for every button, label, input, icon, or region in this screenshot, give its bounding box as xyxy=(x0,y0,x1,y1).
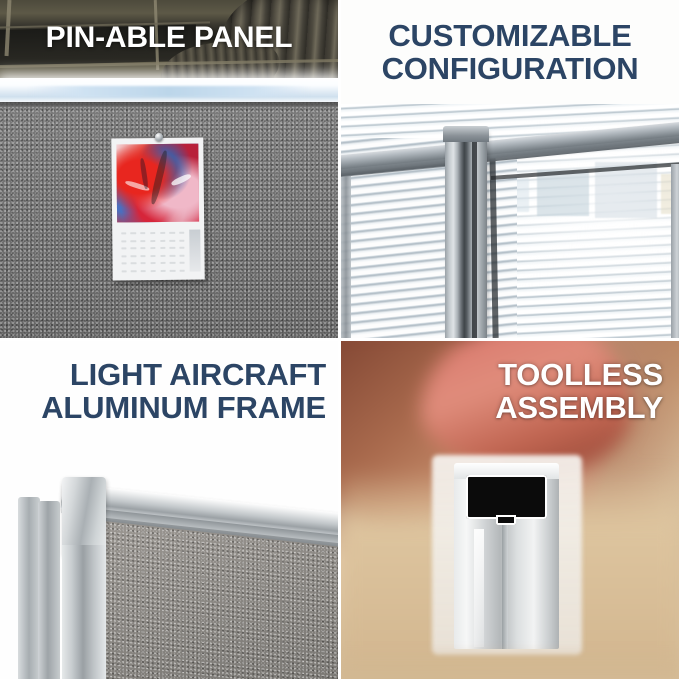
calendar-month-label xyxy=(189,230,200,272)
profile-highlight xyxy=(474,529,484,647)
calendar-artwork xyxy=(116,144,199,223)
profile-web xyxy=(502,525,508,649)
profile-slot xyxy=(466,475,547,519)
caption-customizable-configuration: CUSTOMIZABLE CONFIGURATION xyxy=(351,20,669,86)
carpet-foreground-blur xyxy=(341,645,679,679)
panel-toolless-assembly: TOOLLESS ASSEMBLY xyxy=(341,341,679,679)
right-stile xyxy=(671,164,679,338)
push-pin-icon xyxy=(155,133,163,141)
panel-customizable-configuration: CUSTOMIZABLE CONFIGURATION xyxy=(341,0,679,338)
corner-joint xyxy=(62,477,106,555)
fluorescent-light-glow xyxy=(27,86,311,97)
caption-pin-able-panel: PIN-ABLE PANEL xyxy=(0,22,338,54)
caption-light-aircraft-aluminum-frame: LIGHT AIRCRAFT ALUMINUM FRAME xyxy=(8,359,326,425)
corner-post-cap xyxy=(443,126,489,142)
calendar-poster xyxy=(111,138,204,281)
glass-partition-photo xyxy=(341,104,679,338)
corner-post-groove xyxy=(472,134,477,338)
vertical-post-front xyxy=(62,545,106,679)
artwork-stroke xyxy=(150,150,170,205)
caption-toolless-assembly: TOOLLESS ASSEMBLY xyxy=(361,359,663,425)
feature-collage: PIN-ABLE PANEL CUSTOMIZABLE CONFIGURATIO… xyxy=(0,0,679,679)
artwork-stroke xyxy=(170,172,192,187)
panel-light-aircraft-aluminum-frame: LIGHT AIRCRAFT ALUMINUM FRAME xyxy=(0,341,338,679)
corner-post xyxy=(445,132,487,338)
vertical-post-rear xyxy=(18,497,40,679)
fabric-panel-edge xyxy=(0,102,338,107)
profile-notch xyxy=(496,515,516,525)
left-stile xyxy=(341,158,351,338)
panel-pin-able-panel: PIN-ABLE PANEL xyxy=(0,0,338,338)
calendar-grid xyxy=(119,230,186,275)
vertical-post-middle xyxy=(38,501,60,679)
aluminum-extrusion-profile xyxy=(454,459,559,675)
background-building xyxy=(537,170,589,216)
aluminum-frame-photo xyxy=(0,471,338,679)
